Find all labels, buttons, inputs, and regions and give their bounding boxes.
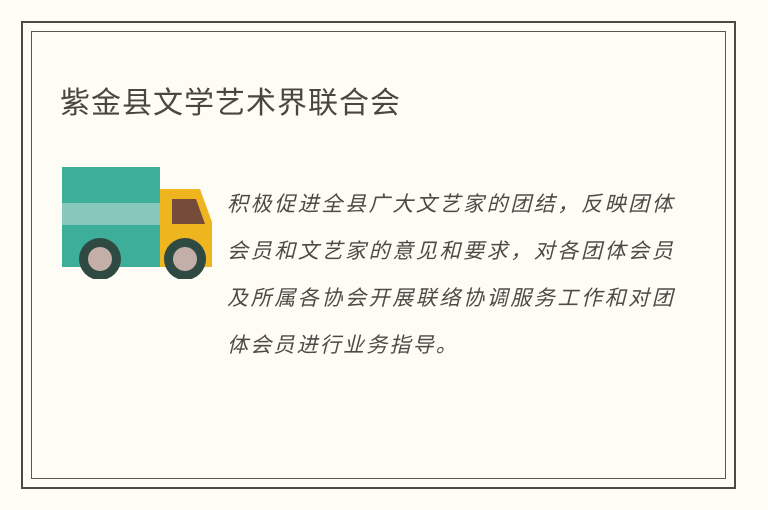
delivery-truck-icon	[60, 159, 225, 279]
content-card: 紫金县文学艺术界联合会 积极促进全县广大文艺家的团结，反映团体会员和文艺家的意见…	[21, 21, 736, 489]
organization-description: 积极促进全县广大文艺家的团结，反映团体会员和文艺家的意见和要求，对各团体会员及所…	[227, 181, 675, 369]
page-title: 紫金县文学艺术界联合会	[60, 85, 401, 123]
